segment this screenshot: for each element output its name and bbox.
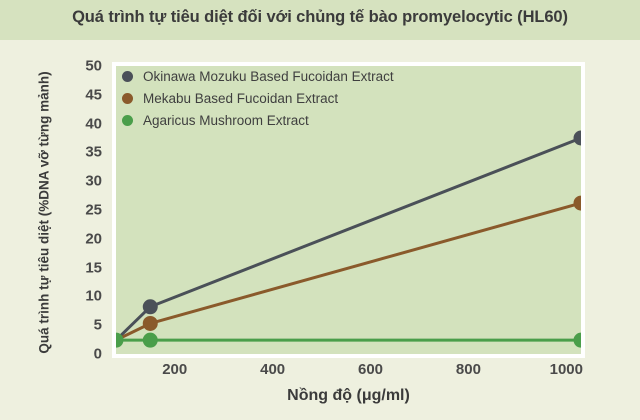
x-tick-label: 600 xyxy=(336,361,406,378)
legend-item: Agaricus Mushroom Extract xyxy=(122,110,422,130)
legend-marker-icon xyxy=(122,71,133,82)
series-okinawa-mozuku-based-fucoidan-extract xyxy=(116,131,581,341)
legend-item: Mekabu Based Fucoidan Extract xyxy=(122,88,422,108)
series-line xyxy=(116,203,581,340)
chart-root: Quá trình tự tiêu diệt đối với chủng tế … xyxy=(0,0,640,420)
x-tick-label: 200 xyxy=(140,361,210,378)
data-point xyxy=(143,299,158,314)
legend-marker-icon xyxy=(122,115,133,126)
data-point xyxy=(143,333,158,348)
legend-item: Okinawa Mozuku Based Fucoidan Extract xyxy=(122,66,422,86)
legend-label: Agaricus Mushroom Extract xyxy=(143,113,309,128)
data-point xyxy=(574,333,582,348)
x-tick-label: 800 xyxy=(433,361,503,378)
data-point xyxy=(574,131,582,146)
data-point xyxy=(574,196,582,211)
x-tick-label: 1000 xyxy=(531,361,601,378)
legend-label: Okinawa Mozuku Based Fucoidan Extract xyxy=(143,69,394,84)
legend-marker-icon xyxy=(122,93,133,104)
legend: Okinawa Mozuku Based Fucoidan ExtractMek… xyxy=(122,66,422,132)
series-mekabu-based-fucoidan-extract xyxy=(116,196,581,341)
legend-label: Mekabu Based Fucoidan Extract xyxy=(143,91,338,106)
series-agaricus-mushroom-extract xyxy=(116,333,581,348)
series-line xyxy=(116,138,581,340)
x-tick-label: 400 xyxy=(238,361,308,378)
data-point xyxy=(143,316,158,331)
